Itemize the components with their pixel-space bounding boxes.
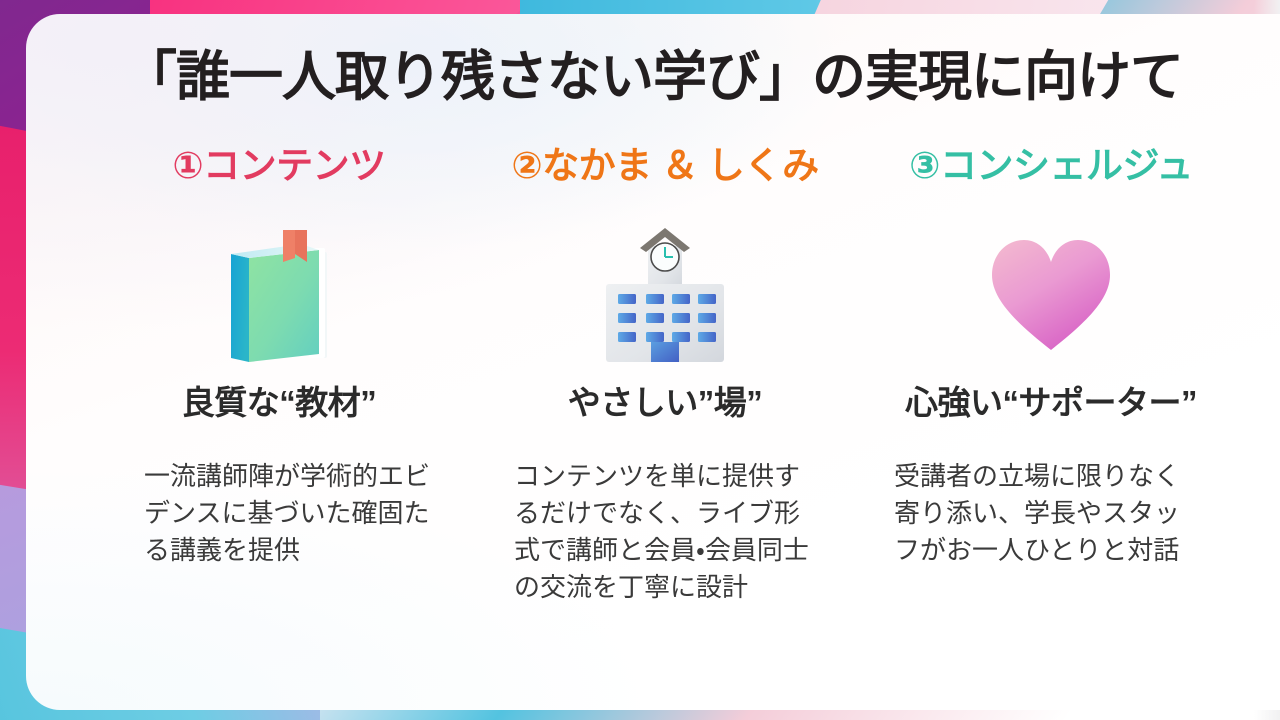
column-subheading-materials: 良質な“教材”: [86, 384, 472, 422]
page-title: 「誰一人取り残さない学び」の実現に向けて: [26, 48, 1280, 107]
closed-book-icon: [227, 228, 331, 364]
column-contents: ①コンテンツ: [86, 144, 472, 606]
three-column-layout: ①コンテンツ: [86, 144, 1246, 606]
icon-container-concierge: [858, 216, 1244, 376]
column-body-materials: 一流講師陣が学術的エビデンスに基づいた確固たる講義を提供: [144, 458, 444, 569]
column-subheading-place: やさしい”場”: [472, 384, 858, 422]
icon-container-contents: [86, 216, 472, 376]
school-building-icon: [598, 226, 732, 366]
content-card: 「誰一人取り残さない学び」の実現に向けて ①コンテンツ: [26, 14, 1280, 710]
column-concierge: ③コンシェルジュ 心強い“サポーター” 受: [858, 144, 1244, 606]
column-heading-concierge: ③コンシェルジュ: [858, 144, 1244, 188]
column-body-supporter: 受講者の立場に限りなく寄り添い、学長やスタッフがお一人ひとりと対話: [894, 458, 1194, 569]
column-body-place: コンテンツを単に提供するだけでなく、ライブ形式で講師と会員・会員同士の交流を丁寧…: [514, 458, 814, 606]
column-community: ②なかま ＆ しくみ: [472, 144, 858, 606]
icon-container-community: [472, 216, 858, 376]
slide-canvas: 「誰一人取り残さない学び」の実現に向けて ①コンテンツ: [0, 0, 1280, 720]
column-heading-community: ②なかま ＆ しくみ: [472, 144, 858, 188]
column-subheading-supporter: 心強い“サポーター”: [858, 384, 1244, 422]
heart-icon: [988, 236, 1114, 356]
column-heading-contents: ①コンテンツ: [86, 144, 472, 188]
